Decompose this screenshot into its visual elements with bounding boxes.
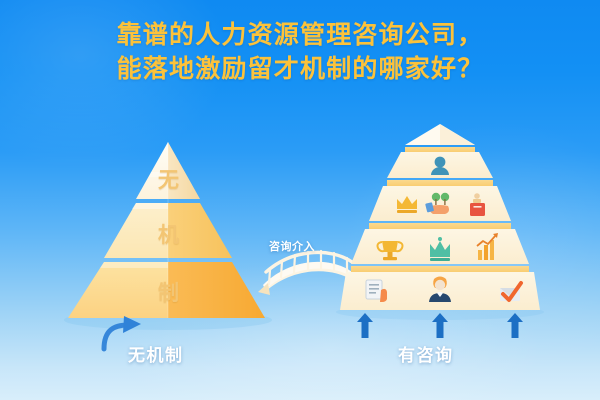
left-pyramid-tier-3-label: 制 bbox=[158, 277, 179, 307]
right-pyramid-caption: 有咨询 bbox=[398, 341, 454, 366]
left-pyramid-caption: 无机制 bbox=[128, 341, 184, 366]
headline: 靠谱的人力资源管理咨询公司， 能落地激励留才机制的哪家好？ bbox=[0, 18, 600, 86]
left-pyramid-tier-3-face-left bbox=[68, 262, 168, 318]
right-pyramid-tier-3 bbox=[369, 186, 511, 221]
headline-line-1: 靠谱的人力资源管理咨询公司， bbox=[0, 18, 600, 52]
headline-line-2: 能落地激励留才机制的哪家好？ bbox=[0, 52, 600, 86]
bridge-label: 咨询介入 bbox=[269, 238, 315, 254]
infographic-canvas: 靠谱的人力资源管理咨询公司， 能落地激励留才机制的哪家好？ bbox=[0, 0, 600, 400]
left-pyramid-tier-2-label: 机 bbox=[158, 219, 179, 249]
bridge bbox=[258, 251, 352, 295]
left-pyramid-tier-3-face-right bbox=[168, 262, 265, 318]
left-pyramid-tier-1-label: 无 bbox=[158, 164, 179, 194]
